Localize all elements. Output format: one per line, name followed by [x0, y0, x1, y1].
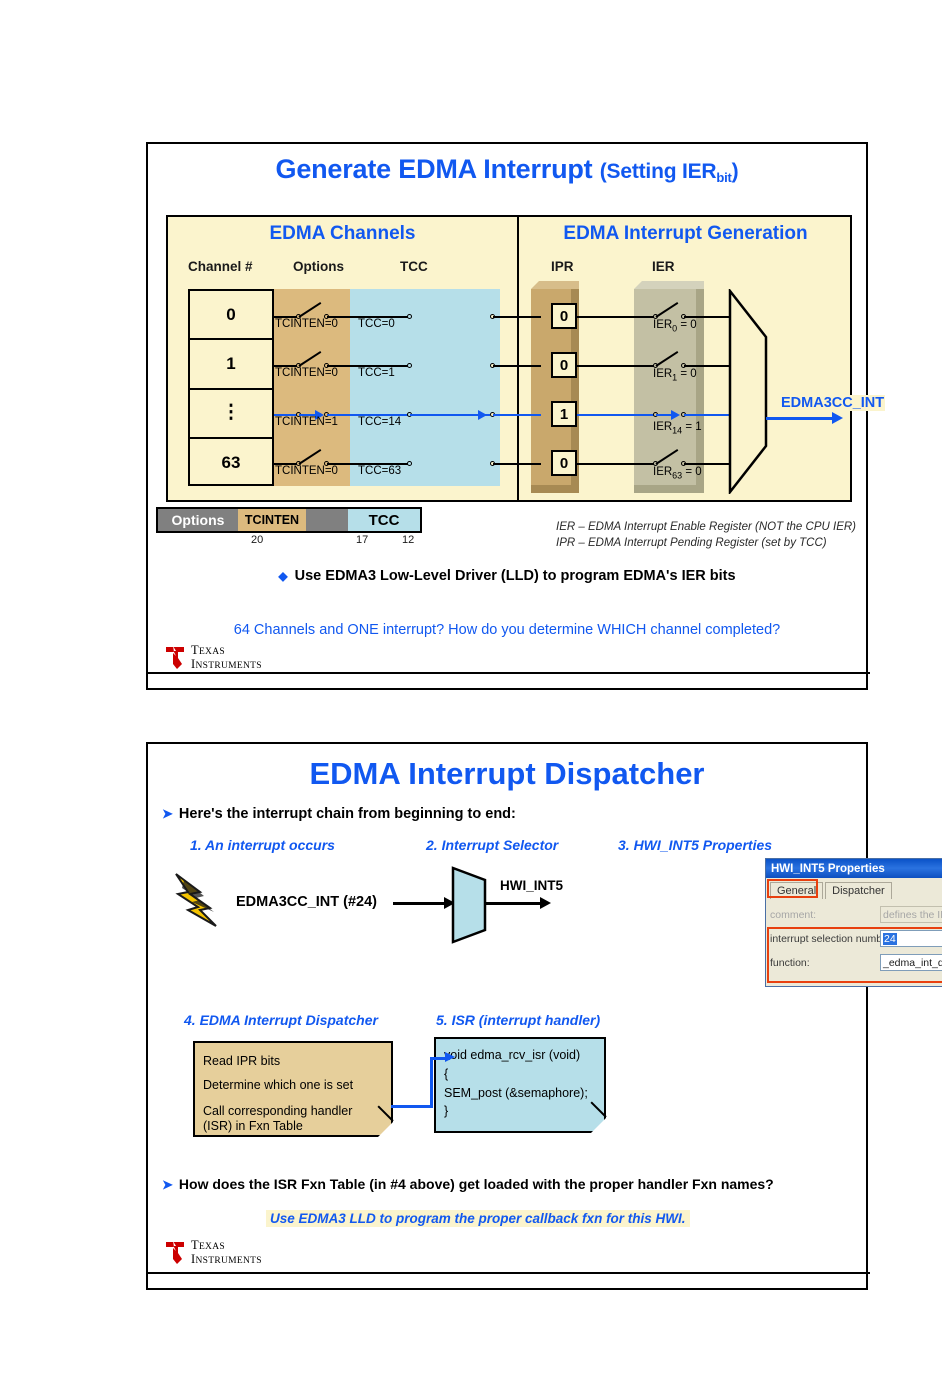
diagram-panel: EDMA Channels EDMA Interrupt Generation …: [166, 215, 852, 502]
ier-bit-label: IER1 = 0: [653, 368, 697, 382]
step-label-4: 4. EDMA Interrupt Dispatcher: [184, 1012, 378, 1028]
note-folded-corner: [378, 1122, 393, 1137]
tcinten-label: TCINTEN=0: [275, 318, 338, 330]
slide1-question: 64 Channels and ONE interrupt? How do yo…: [148, 622, 866, 638]
or-gate-icon: [728, 289, 778, 494]
arrow-bullet-icon: ➤: [162, 806, 173, 821]
ti-logo: TEXAS INSTRUMENTS: [164, 1239, 262, 1266]
dialog-row-function[interactable]: function: _edma_int_dispatcher: [770, 952, 942, 973]
tcinten-label: TCINTEN=1: [275, 416, 338, 428]
bitfield-tcinten: TCINTEN: [238, 509, 306, 531]
arrow-bullet-icon: ➤: [162, 1177, 173, 1192]
tab-dispatcher[interactable]: Dispatcher: [825, 882, 892, 899]
step-label-3: 3. HWI_INT5 Properties: [618, 837, 772, 853]
legend-ier: IER – EDMA Interrupt Enable Register (NO…: [556, 520, 856, 536]
note-connector-arrow-icon: [445, 1052, 455, 1062]
note-left-line: Determine which one is set: [203, 1074, 383, 1098]
ti-logo: TEXAS INSTRUMENTS: [164, 644, 262, 671]
note-right-line: SEM_post (&semaphore);: [444, 1084, 596, 1103]
ipr-bit-box: 0: [551, 352, 577, 378]
diamond-bullet-icon: ◆: [278, 569, 287, 583]
col-label-ipr: IPR: [551, 259, 574, 274]
isr-code-note-box: void edma_rcv_isr (void) { SEM_post (&se…: [434, 1037, 606, 1133]
dialog-row-comment: comment: defines the INT5 Interrup: [770, 904, 942, 925]
bit-number-17: 17: [356, 534, 368, 546]
texas-instruments-logo-icon: [164, 645, 186, 671]
ipr-bit-box-active: 1: [551, 401, 577, 427]
bit-number-20: 20: [251, 534, 263, 546]
note-connector-vertical: [430, 1057, 433, 1108]
slide-edma-interrupt-dispatcher: EDMA Interrupt Dispatcher ➤Here's the in…: [146, 742, 868, 1290]
col-label-tcc: TCC: [400, 259, 428, 274]
tcc-label: TCC=1: [358, 367, 395, 379]
slide2-question: ➤How does the ISR Fxn Table (in #4 above…: [162, 1176, 774, 1193]
bitfield-tcc: TCC: [348, 509, 420, 531]
slide2-subtitle-text: Here's the interrupt chain from beginnin…: [179, 806, 516, 822]
slide1-title-sub-script: bit: [716, 170, 731, 185]
footer-rule: [148, 672, 870, 674]
ier-bit-label: IER63 = 0: [653, 466, 702, 480]
slide1-title: Generate EDMA Interrupt (Setting IERbit): [148, 154, 866, 185]
texas-instruments-logo-icon: [164, 1240, 186, 1266]
tcc-label: TCC=14: [358, 416, 401, 428]
dialog-row-interrupt-selection-number[interactable]: interrupt selection number: 24: [770, 928, 942, 949]
field-label-comment: comment:: [770, 909, 880, 921]
hwi-int5-label: HWI_INT5: [500, 878, 563, 893]
ier-bit-label: IER0 = 0: [653, 319, 697, 333]
options-bitfield-bar: Options TCINTEN TCC: [156, 507, 422, 533]
note-right-line: void edma_rcv_isr (void): [444, 1046, 596, 1065]
panel-divider: [517, 217, 519, 500]
ti-logo-wordmark: TEXAS INSTRUMENTS: [191, 644, 262, 671]
arrow-hwi-icon: [540, 897, 551, 909]
footer-rule: [148, 1272, 870, 1274]
channel-row: TCINTEN=0 TCC=0: [168, 289, 517, 338]
slide1-bullet: ◆Use EDMA3 Low-Level Driver (LLD) to pro…: [148, 568, 866, 584]
ier-3d-block: [634, 281, 712, 493]
tcc-label: TCC=0: [358, 318, 395, 330]
slide-generate-edma-interrupt: Generate EDMA Interrupt (Setting IERbit)…: [146, 142, 868, 690]
panel-head-interrupt-generation: EDMA Interrupt Generation: [517, 223, 854, 245]
slide2-title: EDMA Interrupt Dispatcher: [148, 756, 866, 792]
field-value-interrupt-selection-number[interactable]: 24: [880, 930, 942, 947]
dialog-title-bar: HWI_INT5 Properties: [766, 859, 942, 878]
bitfield-options-label: Options: [158, 509, 238, 531]
col-label-options: Options: [293, 259, 344, 274]
slide1-title-sub-open: (Setting IER: [600, 160, 717, 183]
note-right-line: }: [444, 1102, 596, 1121]
slide2-answer: Use EDMA3 LLD to program the proper call…: [266, 1210, 690, 1227]
channel-row: TCINTEN=0 TCC=1: [168, 338, 517, 387]
note-left-line: (ISR) in Fxn Table: [203, 1119, 383, 1135]
register-legend: IER – EDMA Interrupt Enable Register (NO…: [556, 520, 856, 551]
ipr-bit-box: 0: [551, 450, 577, 476]
note-left-line: Call corresponding handler: [203, 1104, 383, 1120]
field-value-comment: defines the INT5 Interrup: [880, 906, 942, 923]
col-label-ier: IER: [652, 259, 675, 274]
note-left-line: Read IPR bits: [203, 1050, 383, 1074]
ti-logo-wordmark: TEXAS INSTRUMENTS: [191, 1239, 262, 1266]
lightning-bolt-icon: [170, 870, 230, 932]
tcinten-label: TCINTEN=0: [275, 465, 338, 477]
tcinten-label: TCINTEN=0: [275, 367, 338, 379]
dialog-tabs[interactable]: General Dispatcher: [770, 882, 892, 899]
panel-head-edma-channels: EDMA Channels: [168, 223, 517, 245]
dialog-field-list: comment: defines the INT5 Interrup inter…: [770, 904, 942, 976]
col-label-channel: Channel #: [188, 259, 253, 274]
bitfield-gap: [306, 509, 348, 531]
field-value-function[interactable]: _edma_int_dispatcher: [880, 954, 942, 971]
channel-row-active: TCINTEN=1 TCC=14: [168, 387, 517, 436]
tcc-label: TCC=63: [358, 465, 401, 477]
interrupt-source-label: EDMA3CC_INT (#24): [236, 894, 377, 910]
slide1-bullet-text: Use EDMA3 Low-Level Driver (LLD) to prog…: [295, 568, 736, 584]
interrupt-selector-mux-icon: [451, 866, 493, 944]
slide1-title-sub-close: ): [732, 160, 739, 183]
note-connector-horizontal-bottom: [391, 1105, 433, 1108]
ipr-bit-box: 0: [551, 303, 577, 329]
channel-row: TCINTEN=0 TCC=63: [168, 436, 517, 485]
slide1-title-main: Generate EDMA Interrupt: [276, 154, 600, 184]
step-label-2: 2. Interrupt Selector: [426, 837, 558, 853]
step-label-5: 5. ISR (interrupt handler): [436, 1012, 600, 1028]
legend-ipr: IPR – EDMA Interrupt Pending Register (s…: [556, 536, 856, 552]
note-folded-corner: [591, 1118, 606, 1133]
slide2-subtitle: ➤Here's the interrupt chain from beginni…: [162, 806, 516, 822]
bit-number-12: 12: [402, 534, 414, 546]
note-right-line: {: [444, 1065, 596, 1084]
tab-general[interactable]: General: [770, 882, 823, 899]
hwi-int5-properties-dialog[interactable]: HWI_INT5 Properties General Dispatcher c…: [765, 858, 942, 987]
field-label-function: function:: [770, 957, 880, 969]
output-signal-label: EDMA3CC_INT: [780, 395, 885, 411]
slide2-question-text: How does the ISR Fxn Table (in #4 above)…: [179, 1176, 774, 1192]
field-label-interrupt-selection-number: interrupt selection number:: [770, 933, 880, 945]
dispatcher-note-box: Read IPR bits Determine which one is set…: [193, 1041, 393, 1137]
page-root: Generate EDMA Interrupt (Setting IERbit)…: [0, 0, 942, 1384]
step-label-1: 1. An interrupt occurs: [190, 837, 335, 853]
ier-bit-label-active: IER14 = 1: [653, 421, 702, 435]
